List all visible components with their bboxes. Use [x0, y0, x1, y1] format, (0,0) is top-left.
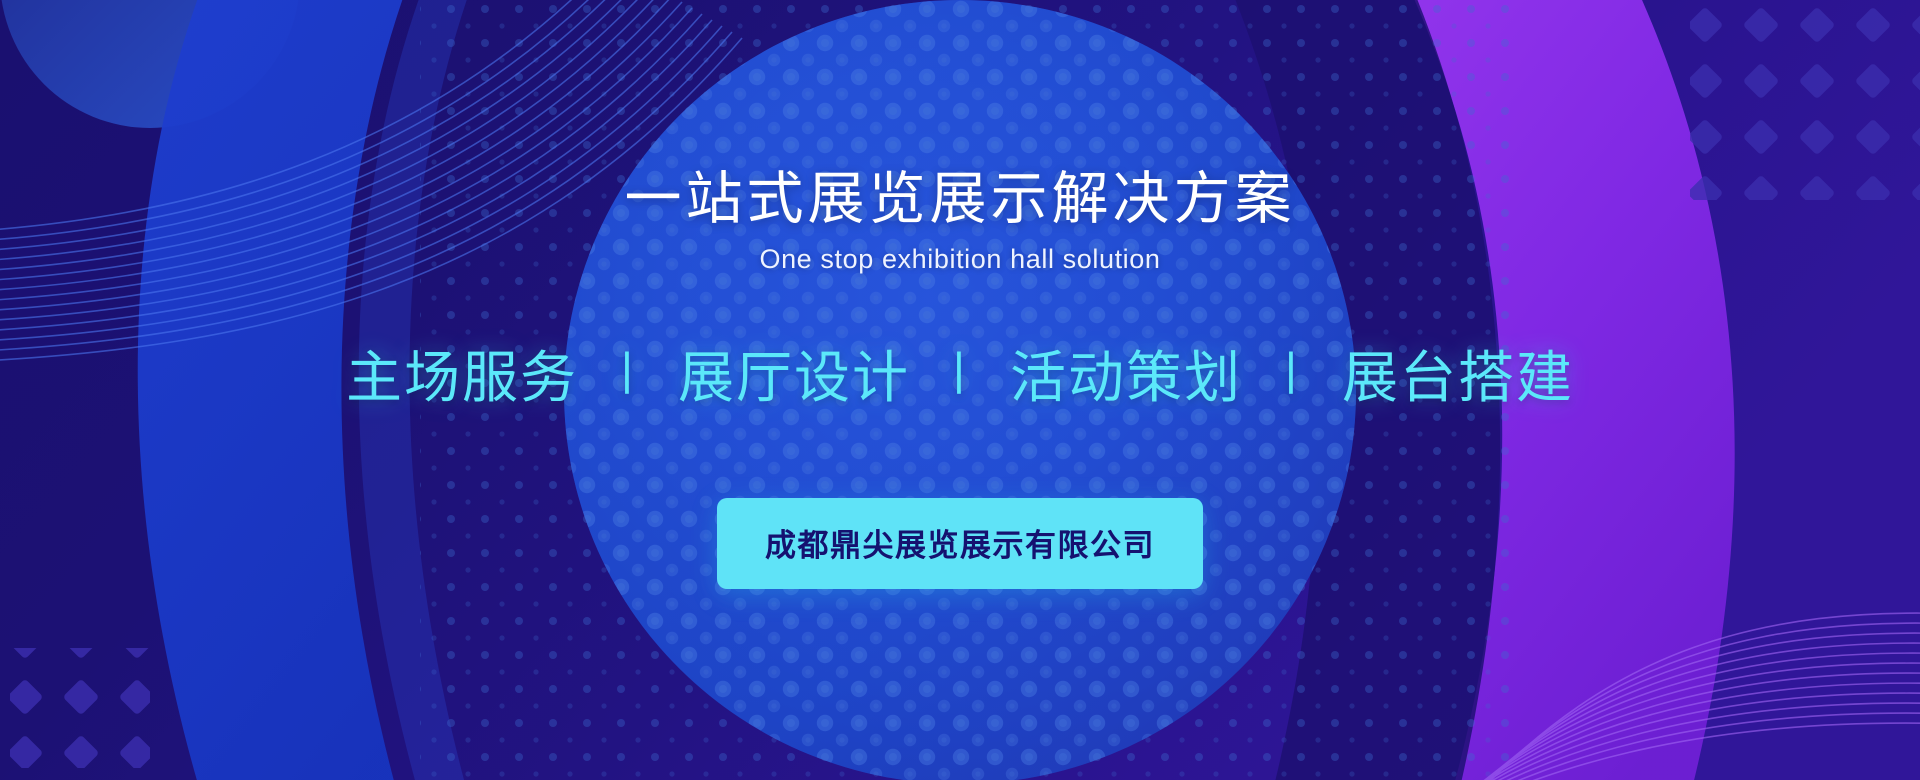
service-list: 主场服务 丨 展厅设计 丨 活动策划 丨 展台搭建	[346, 333, 1574, 414]
company-name-button[interactable]: 成都鼎尖展览展示有限公司	[717, 498, 1203, 589]
promo-banner: 一站式展览展示解决方案 One stop exhibition hall sol…	[0, 0, 1920, 780]
service-item-1: 展厅设计	[678, 333, 910, 414]
diamond-grid-top-right	[1690, 0, 1920, 210]
service-separator-1: 丨	[936, 338, 984, 404]
service-item-3: 展台搭建	[1342, 333, 1574, 414]
service-item-0: 主场服务	[346, 333, 578, 414]
service-item-2: 活动策划	[1010, 333, 1242, 414]
diamond-grid-bottom-left	[0, 640, 170, 780]
service-separator-0: 丨	[604, 338, 652, 404]
service-separator-2: 丨	[1268, 338, 1316, 404]
page-title: 一站式展览展示解决方案	[625, 168, 1296, 232]
subtitle: One stop exhibition hall solution	[759, 244, 1160, 275]
